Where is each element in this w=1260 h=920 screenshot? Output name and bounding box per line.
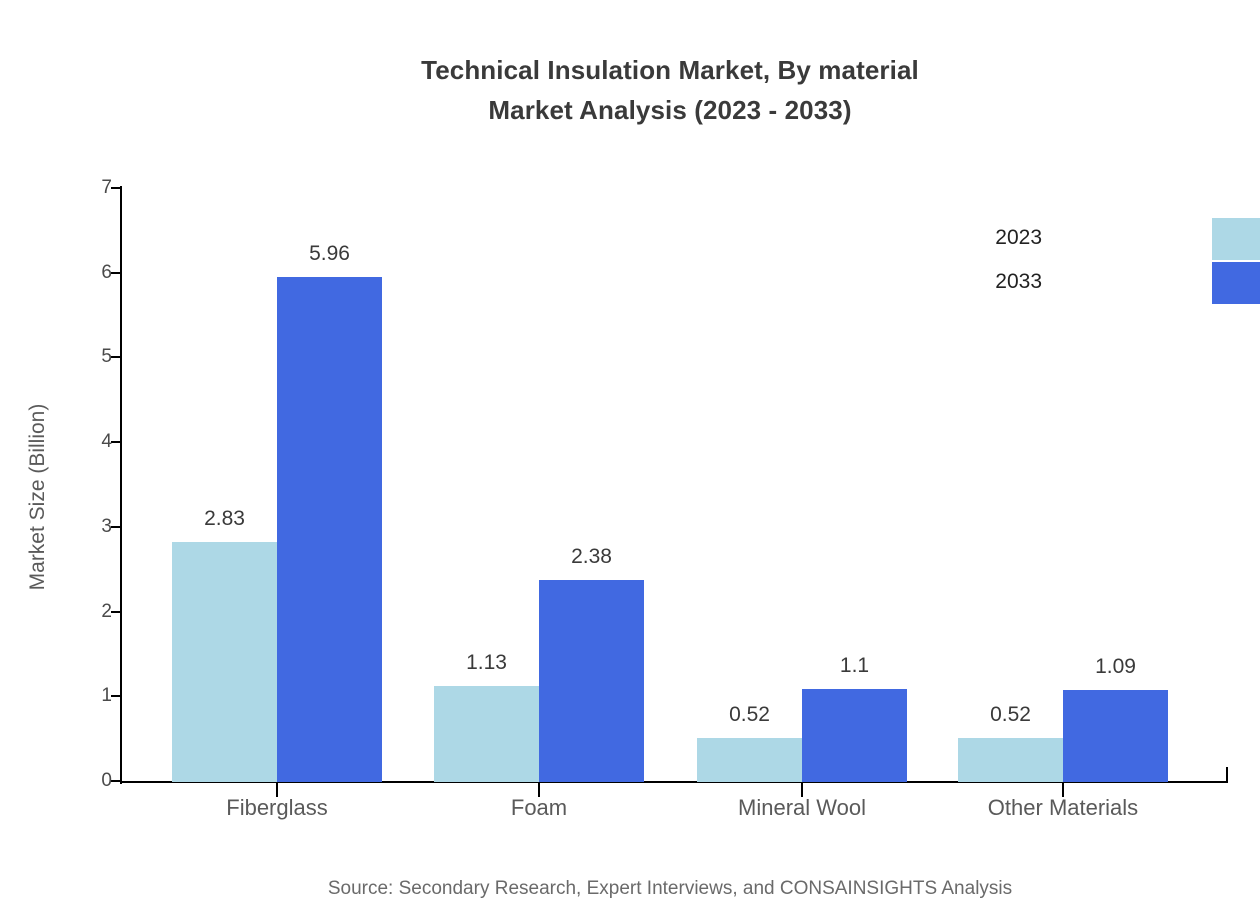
y-axis-tick (111, 356, 120, 358)
legend-label-2023: 2023 (922, 226, 1042, 250)
bar-value-label: 1.13 (466, 651, 507, 675)
bar-mineral-wool-2023[interactable] (697, 738, 802, 782)
y-axis-tick (111, 272, 120, 274)
y-axis-tick (111, 611, 120, 613)
y-axis-tick-label: 1 (72, 685, 112, 707)
bar-value-label: 2.38 (571, 545, 612, 569)
chart-title-line-1: Technical Insulation Market, By material (0, 50, 1260, 90)
source-note: Source: Secondary Research, Expert Inter… (0, 878, 1260, 900)
y-axis-tick-label: 4 (72, 431, 112, 453)
y-axis-tick (111, 441, 120, 443)
y-axis-title: Market Size (Billion) (26, 237, 50, 757)
chart-title-line-2: Market Analysis (2023 - 2033) (0, 90, 1260, 130)
y-axis-tick (111, 695, 120, 697)
y-axis-tick-label: 0 (72, 770, 112, 792)
bar-mineral-wool-2033[interactable] (802, 689, 907, 782)
bar-chart: Technical Insulation Market, By material… (0, 0, 1260, 920)
x-axis-label-other-materials: Other Materials (988, 795, 1138, 821)
bar-value-label: 1.09 (1095, 655, 1136, 679)
y-axis-tick (111, 187, 120, 189)
y-axis-tick (111, 526, 120, 528)
bar-value-label: 0.52 (729, 703, 770, 727)
bar-other-materials-2023[interactable] (958, 738, 1063, 782)
legend-swatch-2033 (1212, 262, 1260, 304)
y-axis-tick-label: 6 (72, 262, 112, 284)
bar-foam-2033[interactable] (539, 580, 644, 782)
bar-foam-2023[interactable] (434, 686, 539, 782)
bar-value-label: 5.96 (309, 242, 350, 266)
bar-value-label: 0.52 (990, 703, 1031, 727)
plot-area: 2.835.961.132.380.521.10.521.09 (120, 188, 1228, 782)
y-axis-tick (111, 780, 120, 782)
x-axis-label-foam: Foam (511, 795, 567, 821)
y-axis-tick-label: 5 (72, 346, 112, 368)
y-axis-tick-label: 2 (72, 601, 112, 623)
x-axis-label-mineral-wool: Mineral Wool (738, 795, 866, 821)
legend-label-2033: 2033 (922, 270, 1042, 294)
y-axis-tick-label: 3 (72, 516, 112, 538)
bar-fiberglass-2023[interactable] (172, 542, 277, 782)
chart-title: Technical Insulation Market, By material… (0, 50, 1260, 130)
x-axis-label-fiberglass: Fiberglass (226, 795, 327, 821)
bar-value-label: 2.83 (204, 507, 245, 531)
legend-swatch-2023 (1212, 218, 1260, 260)
bar-fiberglass-2033[interactable] (277, 277, 382, 782)
bar-other-materials-2033[interactable] (1063, 690, 1168, 782)
bar-value-label: 1.1 (840, 654, 869, 678)
y-axis-tick-label: 7 (72, 177, 112, 199)
